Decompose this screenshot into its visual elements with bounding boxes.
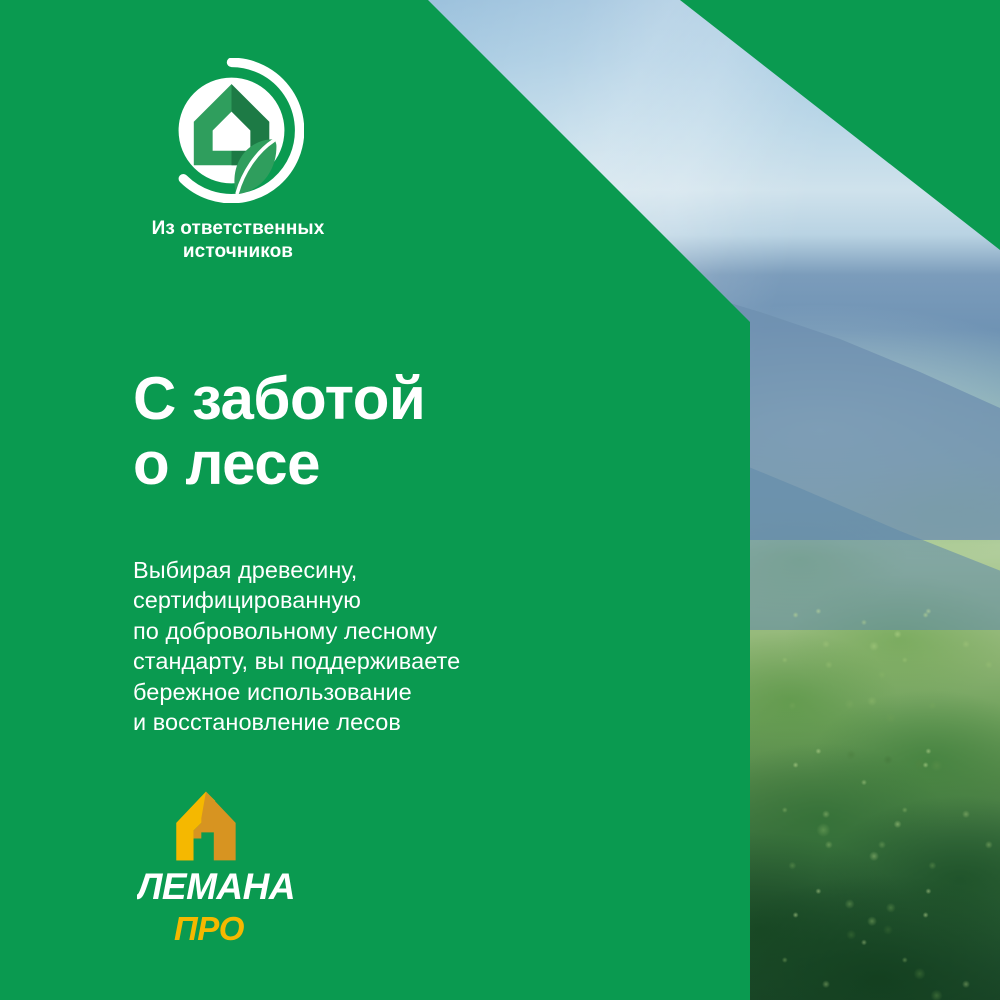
headline-line-2: о лесе: [133, 432, 425, 497]
badge-caption: Из ответственных источников: [133, 217, 343, 263]
brand-name-text: ЛЕМАНА: [137, 866, 295, 907]
lemana-pro-logo: ЛЕМАНА ПРО: [137, 790, 387, 947]
pro-wordmark: ПРО: [174, 911, 274, 947]
body-line-4: стандарту, вы поддерживаете: [133, 646, 460, 677]
badge-caption-line-1: Из ответственных: [133, 217, 343, 240]
body-line-5: бережное использование: [133, 677, 460, 708]
badge-caption-line-2: источников: [133, 240, 343, 263]
headline-line-1: С заботой: [133, 367, 425, 432]
brand-sub-text: ПРО: [174, 911, 245, 947]
poster-canvas: Из ответственных источников С заботой о …: [0, 0, 1000, 1000]
body-paragraph: Выбирая древесину, сертифицированную по …: [133, 555, 460, 738]
body-line-3: по добровольному лесному: [133, 616, 460, 647]
body-line-6: и восстановление лесов: [133, 707, 460, 738]
house-leaf-circle-icon: [159, 58, 304, 203]
body-line-2: сертифицированную: [133, 585, 460, 616]
headline: С заботой о лесе: [133, 367, 425, 497]
lemana-wordmark: ЛЕМАНА: [137, 866, 309, 908]
body-line-1: Выбирая древесину,: [133, 555, 460, 586]
poster-content: Из ответственных источников С заботой о …: [0, 0, 1000, 1000]
lemana-house-icon: [167, 790, 245, 862]
responsible-sourcing-badge: Из ответственных источников: [133, 58, 433, 263]
